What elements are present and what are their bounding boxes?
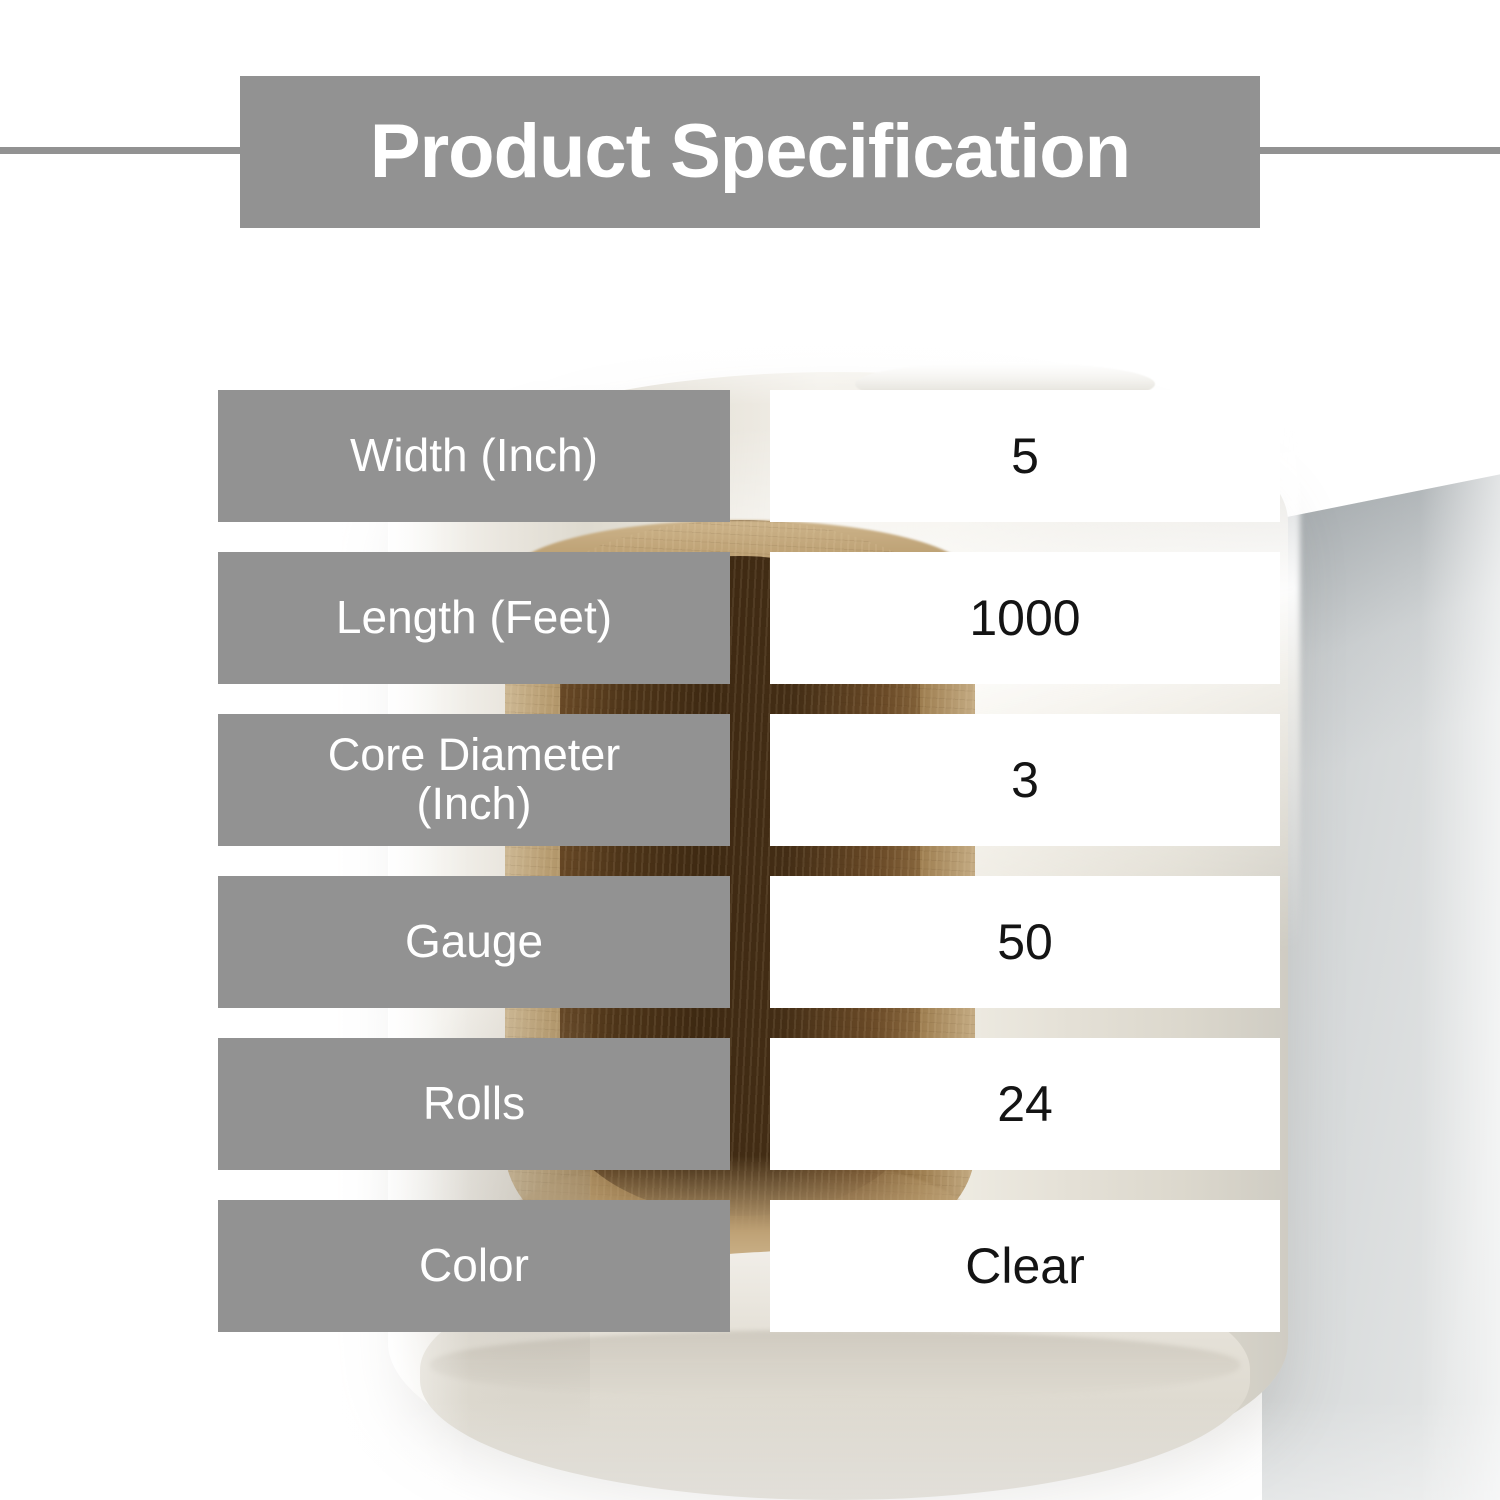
spec-value-cell: 5 [770, 390, 1280, 522]
spec-value-cell: 3 [770, 714, 1280, 846]
spec-label-text: Rolls [423, 1079, 525, 1129]
spec-value-cell: 1000 [770, 552, 1280, 684]
specification-table: Width (Inch) 5 Length (Feet) 1000 Core D… [218, 390, 1280, 1332]
spec-label-text: Length (Feet) [336, 593, 612, 643]
spec-value-cell: 50 [770, 876, 1280, 1008]
spec-label-text: Width (Inch) [350, 431, 598, 481]
table-row: Rolls 24 [218, 1038, 1280, 1170]
spec-value-text: 50 [997, 917, 1053, 967]
table-row: Width (Inch) 5 [218, 390, 1280, 522]
photo-fade-right [1420, 0, 1500, 1500]
spec-value-cell: 24 [770, 1038, 1280, 1170]
spec-label-cell: Gauge [218, 876, 730, 1008]
photo-fade-top [0, 230, 1500, 405]
spec-value-text: Clear [965, 1241, 1084, 1291]
spec-value-cell: Clear [770, 1200, 1280, 1332]
product-specification-card: Product Specification Width (Inch) 5 Len… [0, 0, 1500, 1500]
spec-label-cell: Color [218, 1200, 730, 1332]
spec-label-cell: Rolls [218, 1038, 730, 1170]
spec-value-text: 3 [1011, 755, 1039, 805]
spec-label-cell: Length (Feet) [218, 552, 730, 684]
spec-value-text: 5 [1011, 431, 1039, 481]
table-row: Length (Feet) 1000 [218, 552, 1280, 684]
photo-fade-bottom [0, 1400, 1500, 1500]
spec-label-text: Core Diameter (Inch) [328, 731, 621, 828]
table-row: Core Diameter (Inch) 3 [218, 714, 1280, 846]
spec-label-text: Gauge [405, 917, 543, 967]
spec-label-cell: Core Diameter (Inch) [218, 714, 730, 846]
spec-value-text: 1000 [969, 593, 1080, 643]
spec-label-text: Color [419, 1241, 529, 1291]
spec-value-text: 24 [997, 1079, 1053, 1129]
table-row: Color Clear [218, 1200, 1280, 1332]
page-title: Product Specification [370, 114, 1130, 190]
title-banner: Product Specification [240, 76, 1260, 228]
table-row: Gauge 50 [218, 876, 1280, 1008]
spec-label-cell: Width (Inch) [218, 390, 730, 522]
